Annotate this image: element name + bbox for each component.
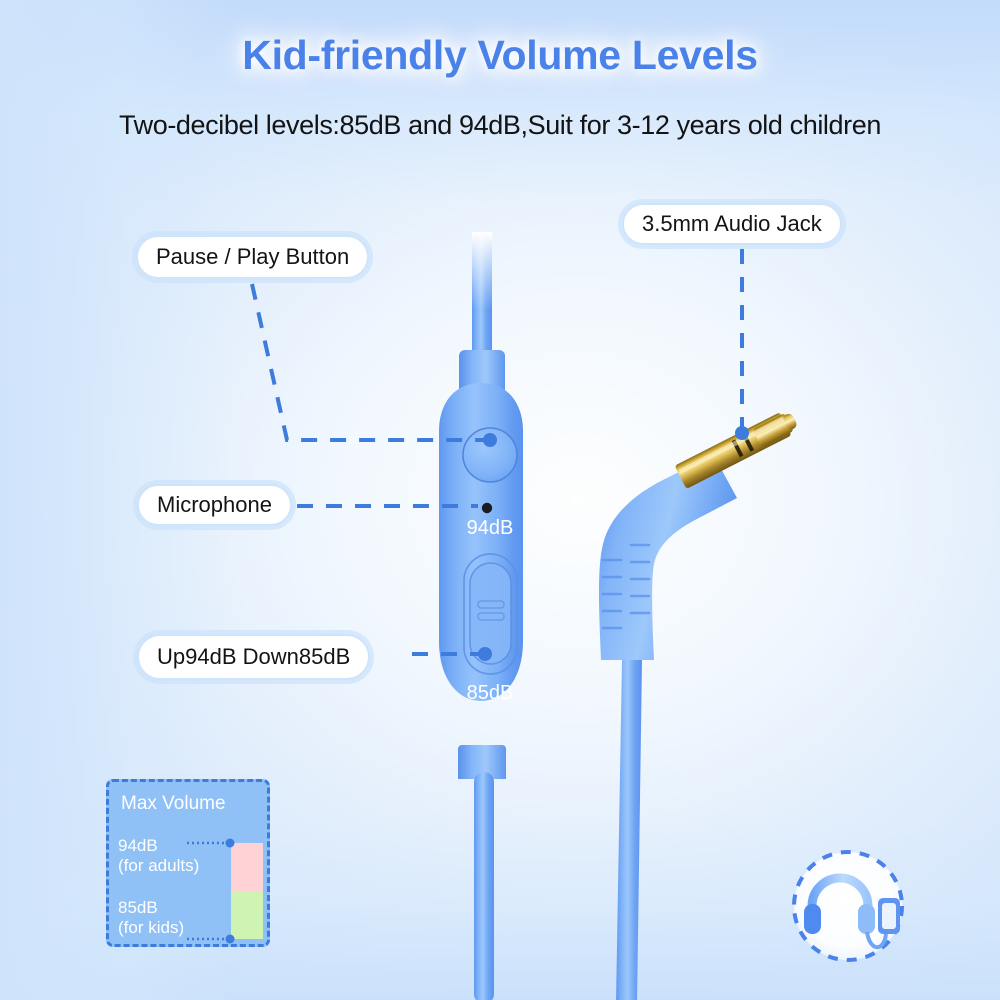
device-label-94db: 94dB [467,517,514,539]
leader-line-pause-play [252,284,497,447]
leader-line-volume-switch [412,647,492,661]
infographic-canvas: Kid-friendly Volume Levels Two-decibel l… [0,0,1000,1000]
leader-line-audio-jack [735,249,749,440]
device-label-85db: 85dB [467,682,514,704]
annotation-layer: 94dB 85dB [0,0,1000,1000]
